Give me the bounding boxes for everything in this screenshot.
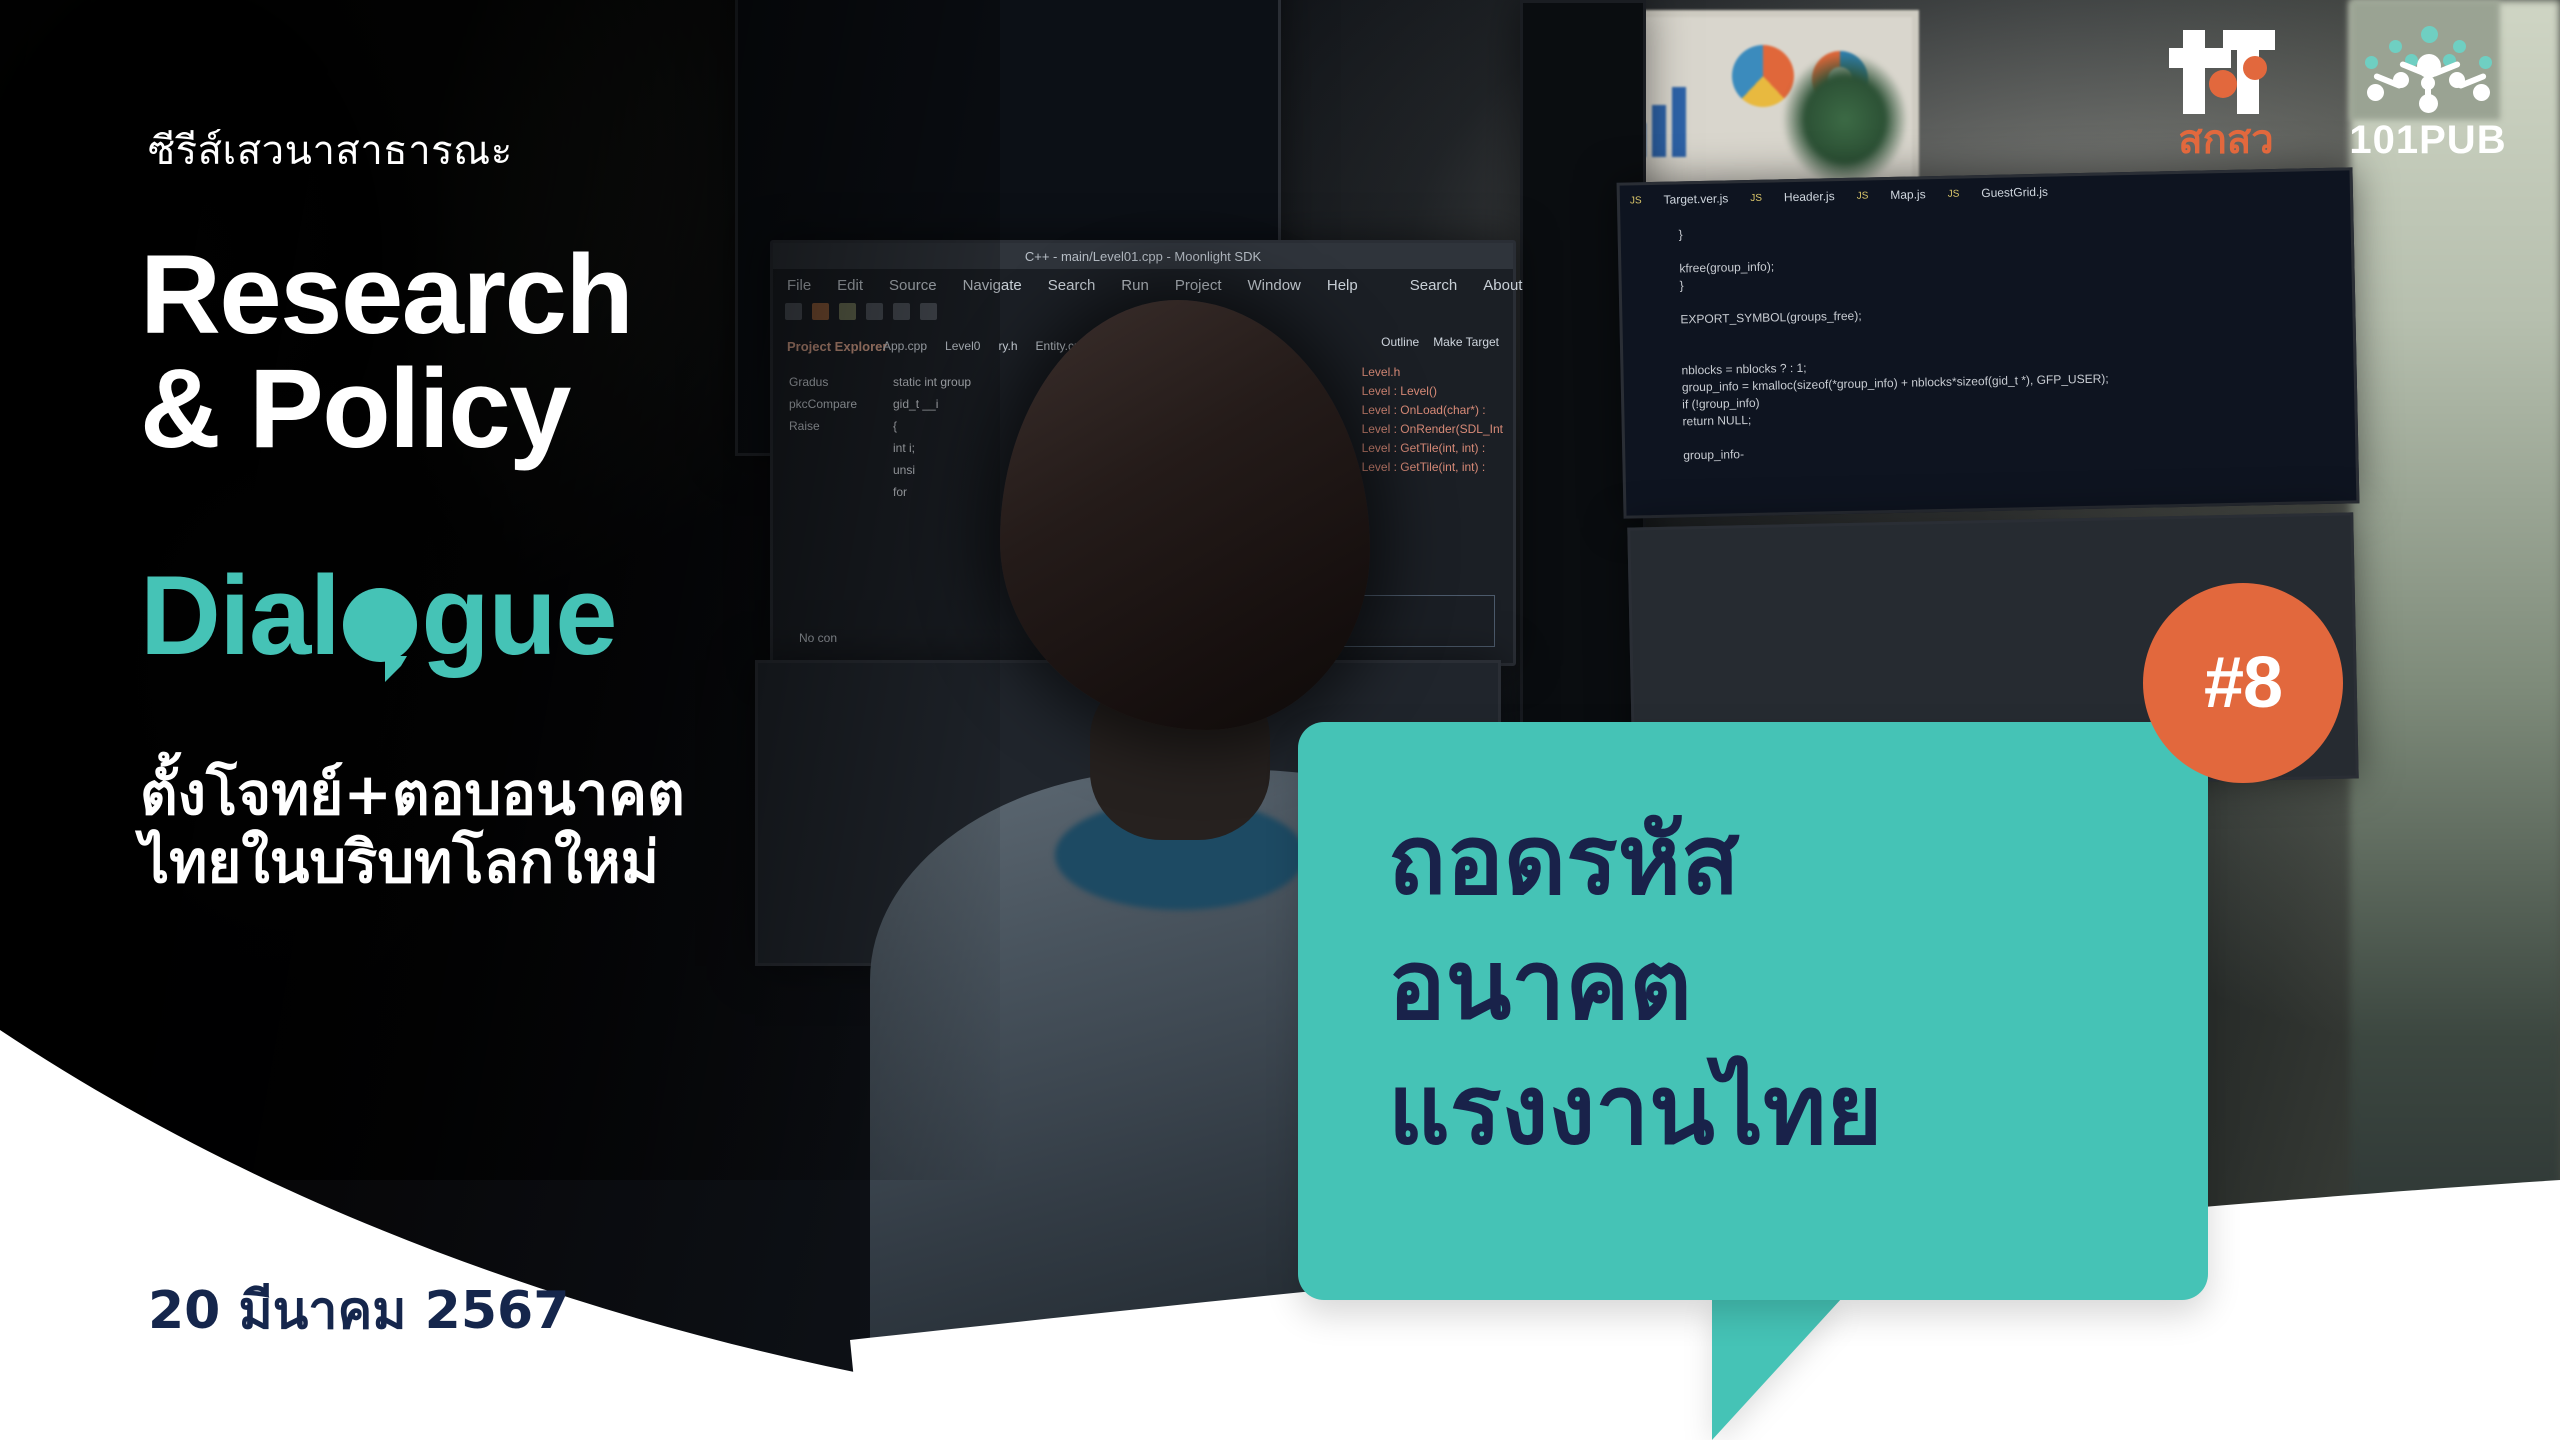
tsri-wordmark: สกสว xyxy=(2160,120,2292,160)
right-editor-tab-3: GuestGrid.js xyxy=(1981,185,2048,200)
right-editor-tab-0: Target.ver.js xyxy=(1663,191,1728,206)
poster-canvas: JS Target.ver.js JS Header.js JS Map.js … xyxy=(0,0,2560,1440)
right-editor-tab-2: Map.js xyxy=(1890,187,1926,202)
title-dialogue: Dial gue xyxy=(140,560,616,672)
topic-line-2: อนาคต xyxy=(1388,923,2148,1048)
speech-bubble-icon xyxy=(343,588,417,662)
pub-wordmark: 101PUB xyxy=(2344,120,2512,160)
title-dialogue-suffix: gue xyxy=(421,560,616,672)
logo-101pub[interactable]: 101PUB xyxy=(2344,26,2512,160)
right-tab-prefix-0: JS xyxy=(1630,195,1642,206)
logo-group: สกสว xyxy=(2160,26,2512,160)
ide-menu-search[interactable]: Search xyxy=(1048,277,1096,294)
ide-menu-window[interactable]: Window xyxy=(1248,277,1301,294)
series-kicker: ซีรีส์เสวนาสาธารณะ xyxy=(148,118,513,182)
right-tab-prefix-2: JS xyxy=(1857,190,1869,201)
tsri-mark-icon xyxy=(2167,26,2285,118)
poster-bar-2 xyxy=(1652,105,1666,157)
subtitle: ตั้งโจทย์+ตอบอนาคต ไทยในบริบทโลกใหม่ xyxy=(140,760,685,897)
photo-right-wall xyxy=(2350,0,2560,1440)
topic-line-1: ถอดรหัส xyxy=(1388,798,2148,923)
ide-menu-help[interactable]: Help xyxy=(1327,277,1358,294)
ide-about-link[interactable]: About xyxy=(1483,277,1522,294)
person-head xyxy=(1000,300,1370,730)
topic-line-3: แรงงานไทย xyxy=(1388,1048,2148,1173)
ide-menu-project[interactable]: Project xyxy=(1175,277,1222,294)
title-line-1: Research xyxy=(140,238,632,352)
poster-bar-3 xyxy=(1672,87,1686,157)
right-tab-prefix-3: JS xyxy=(1948,188,1960,199)
right-tab-prefix-1: JS xyxy=(1750,192,1762,203)
title-dialogue-prefix: Dial xyxy=(140,560,339,672)
topic-title: ถอดรหัส อนาคต แรงงานไทย xyxy=(1388,798,2148,1172)
logo-tsri[interactable]: สกสว xyxy=(2160,26,2292,160)
subtitle-line-2: ไทยในบริบทโลกใหม่ xyxy=(140,828,685,896)
title-line-2: & Policy xyxy=(140,352,632,466)
right-editor-tab-1: Header.js xyxy=(1784,189,1835,204)
speech-bubble-tail xyxy=(1712,1298,1842,1440)
event-date: 20 มีนาคม 2567 xyxy=(148,1268,569,1351)
subtitle-line-1: ตั้งโจทย์+ตอบอนาคต xyxy=(140,760,685,828)
episode-badge: #8 xyxy=(2143,583,2343,783)
network-node-icon xyxy=(2353,26,2503,116)
page-title: Research & Policy xyxy=(140,238,632,466)
ide-menu-run[interactable]: Run xyxy=(1121,277,1149,294)
monitor-right: JS Target.ver.js JS Header.js JS Map.js … xyxy=(1617,167,2360,518)
ide-search-field[interactable]: Search xyxy=(1410,277,1458,294)
